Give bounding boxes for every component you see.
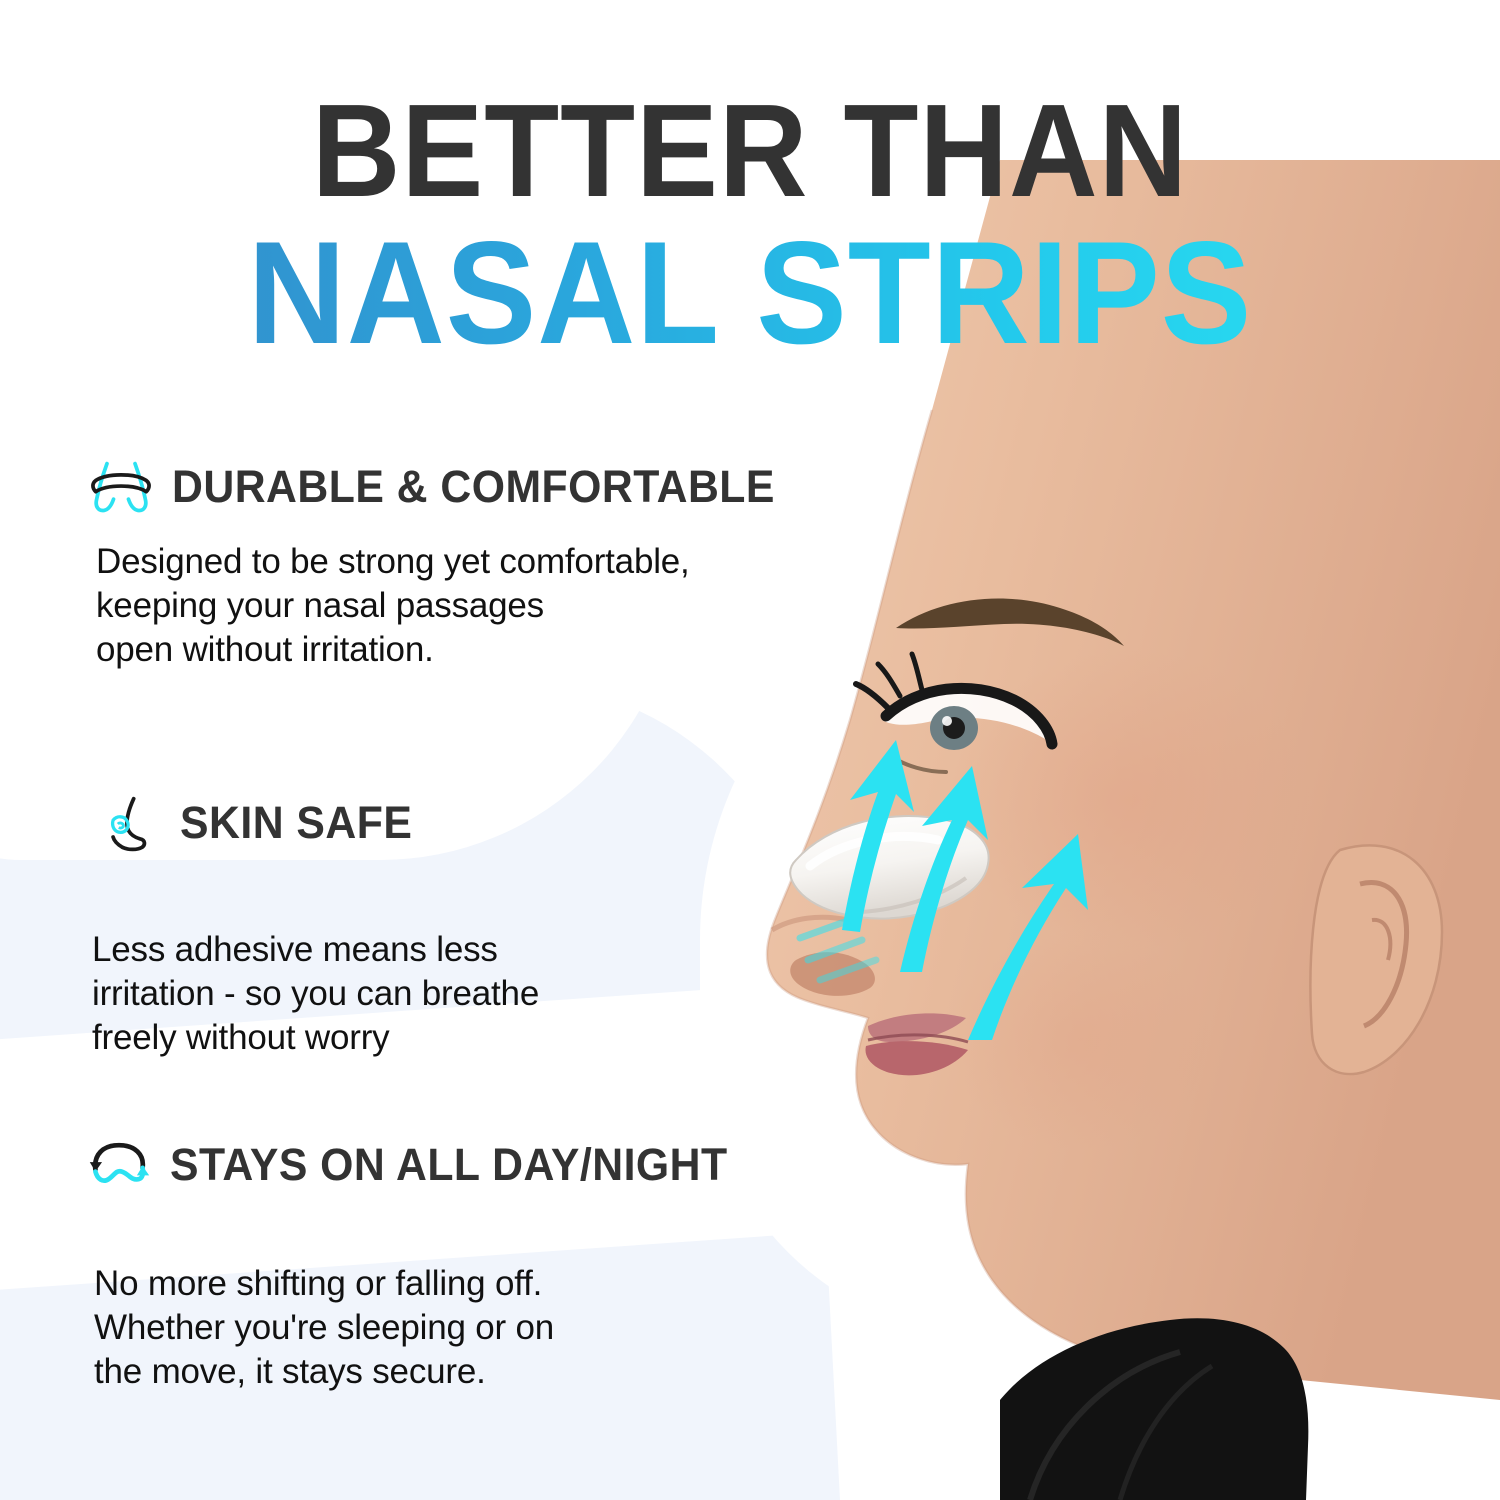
product-feature-graphic: BETTER THAN NASAL STRIPS DURABLE & COMFO…	[0, 0, 1500, 1500]
nose-profile-skin-safe-icon	[96, 794, 162, 852]
all-day-loop-arrows-icon	[86, 1136, 152, 1194]
feature-heading-row: STAYS ON ALL DAY/NIGHT	[86, 1136, 906, 1194]
feature-title: DURABLE & COMFORTABLE	[172, 461, 775, 513]
feature-description: Less adhesive means less irritation - so…	[92, 928, 916, 1060]
feature-heading-row: SKIN SAFE	[96, 794, 916, 852]
feature-description: Designed to be strong yet comfortable, k…	[96, 540, 908, 672]
feature-heading-row: DURABLE & COMFORTABLE	[88, 458, 908, 516]
feature-block-durable-comfortable: DURABLE & COMFORTABLE Designed to be str…	[88, 458, 908, 672]
feature-description: No more shifting or falling off. Whether…	[94, 1262, 906, 1394]
feature-title: SKIN SAFE	[180, 797, 412, 849]
feature-block-skin-safe: SKIN SAFE Less adhesive means less irrit…	[96, 794, 916, 1060]
feature-title: STAYS ON ALL DAY/NIGHT	[170, 1139, 728, 1191]
nose-strip-front-icon	[88, 458, 154, 516]
black-garment	[1000, 1318, 1308, 1500]
feature-block-stays-on: STAYS ON ALL DAY/NIGHT No more shifting …	[86, 1136, 906, 1394]
